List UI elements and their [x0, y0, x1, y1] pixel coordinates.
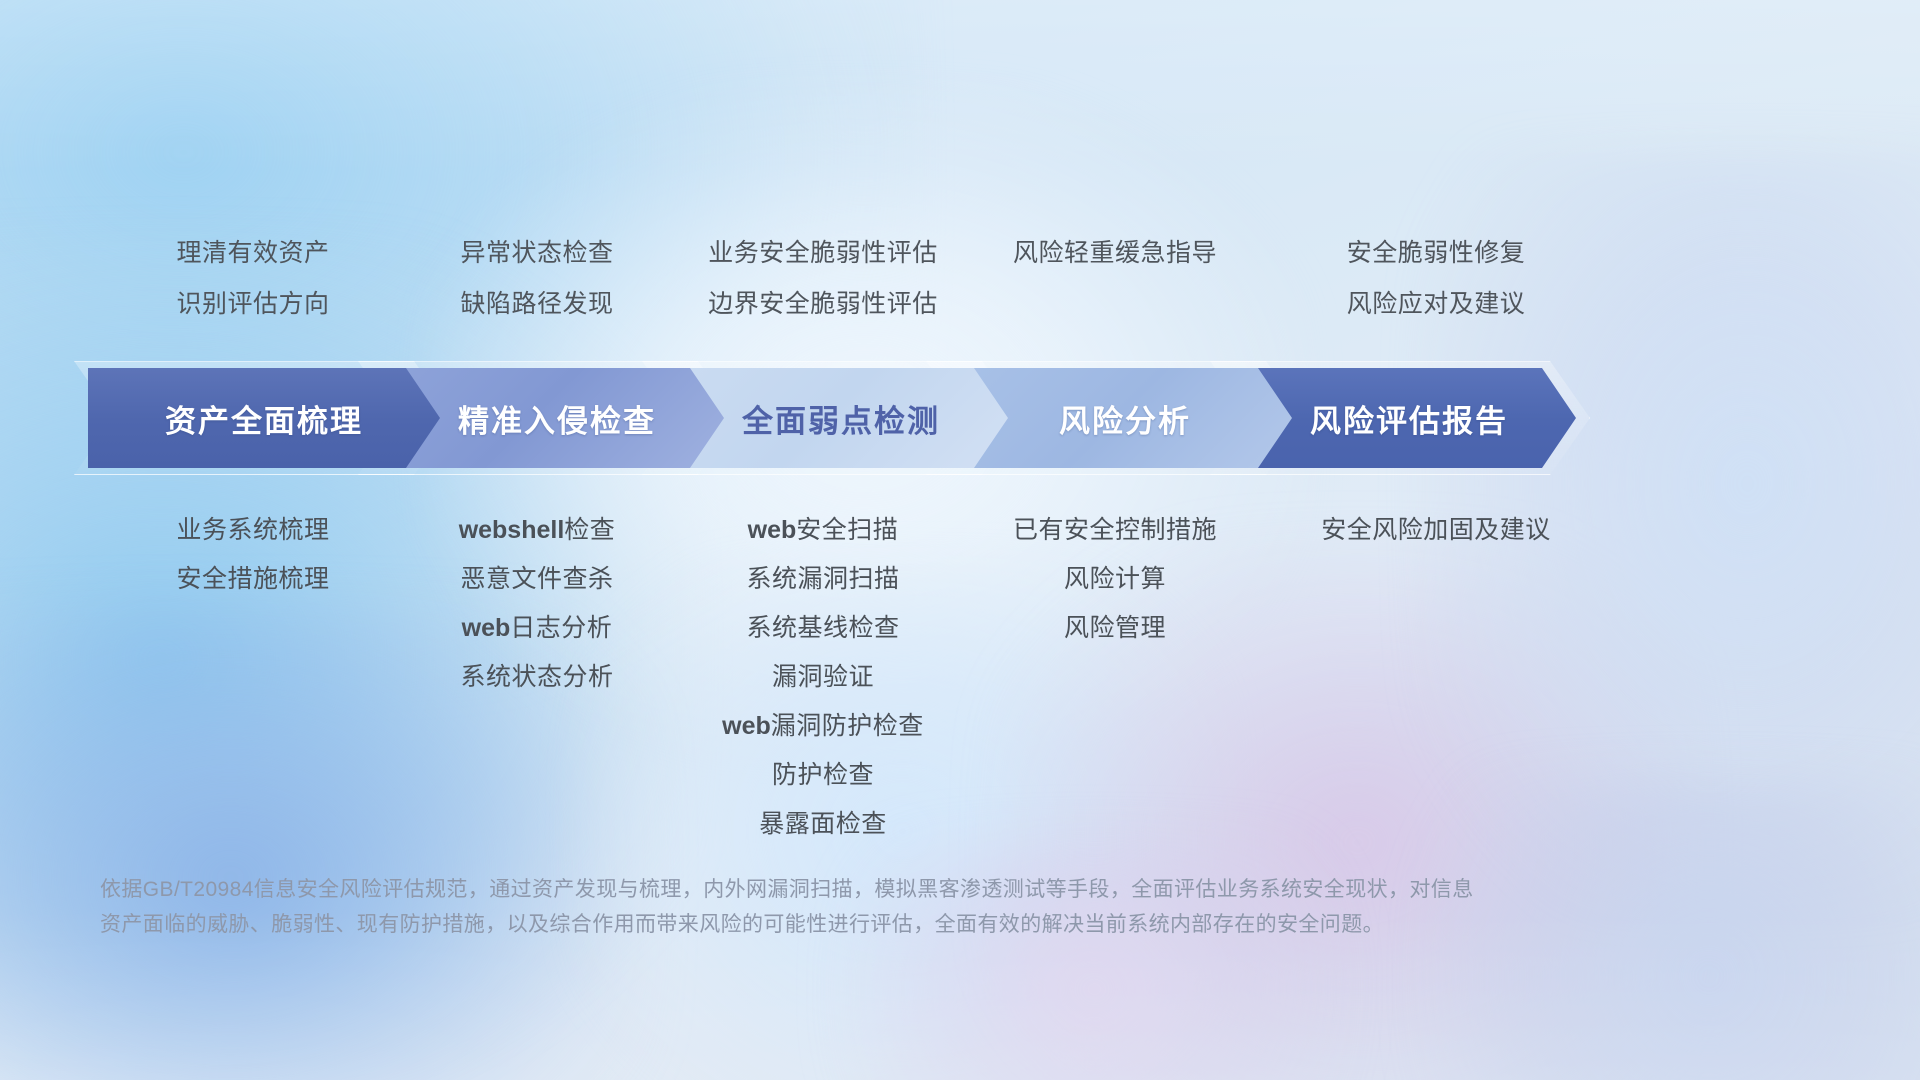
chevron-asset-inventory[interactable]: 资产全面梳理: [88, 368, 440, 468]
activity-item: 风险管理: [950, 604, 1280, 653]
stage-activities-asset-inventory: 业务系统梳理安全措施梳理: [88, 506, 418, 604]
outcome-item: 业务安全脆弱性评估: [653, 228, 993, 279]
outcome-item: 理清有效资产: [88, 228, 418, 279]
chevron-label: 风险评估报告: [1292, 396, 1508, 441]
chevron-label: 全面弱点检测: [724, 396, 940, 441]
process-diagram: 理清有效资产识别评估方向异常状态检查缺陷路径发现业务安全脆弱性评估边界安全脆弱性…: [0, 0, 1920, 1080]
chevron-label: 资产全面梳理: [165, 396, 363, 441]
activity-item: 安全措施梳理: [88, 555, 418, 604]
activity-item: 防护检查: [653, 751, 993, 800]
activity-item: web安全扫描: [653, 506, 993, 555]
activity-item: 业务系统梳理: [88, 506, 418, 555]
footer-description: 依据GB/T20984信息安全风险评估规范，通过资产发现与梳理，内外网漏洞扫描，…: [100, 872, 1620, 942]
activity-item: 暴露面检查: [653, 800, 993, 849]
outcome-item: 安全脆弱性修复: [1236, 228, 1636, 279]
activity-item: 系统基线检查: [653, 604, 993, 653]
footer-line-2: 资产面临的威胁、脆弱性、现有防护措施，以及综合作用而带来风险的可能性进行评估，全…: [100, 907, 1620, 942]
outcome-item: 识别评估方向: [88, 279, 418, 330]
chevron-label: 精准入侵检查: [440, 396, 656, 441]
activity-item: 漏洞验证: [653, 653, 993, 702]
stage-outcomes-risk-analysis: 风险轻重缓急指导: [950, 228, 1280, 279]
chevron-label: 风险分析: [1041, 396, 1191, 441]
activity-item: 安全风险加固及建议: [1236, 506, 1636, 555]
footer-line-1: 依据GB/T20984信息安全风险评估规范，通过资产发现与梳理，内外网漏洞扫描，…: [100, 872, 1620, 907]
outcome-item: 边界安全脆弱性评估: [653, 279, 993, 330]
activity-item: web漏洞防护检查: [653, 702, 993, 751]
activity-item: 系统漏洞扫描: [653, 555, 993, 604]
stage-outcomes-weakness-detection: 业务安全脆弱性评估边界安全脆弱性评估: [653, 228, 993, 330]
stage-activities-risk-assessment-report: 安全风险加固及建议: [1236, 506, 1636, 555]
activity-item: 风险计算: [950, 555, 1280, 604]
stage-outcomes-asset-inventory: 理清有效资产识别评估方向: [88, 228, 418, 330]
outcome-item: 风险轻重缓急指导: [950, 228, 1280, 279]
stage-chevron-band: 资产全面梳理精准入侵检查全面弱点检测风险分析风险评估报告: [88, 368, 1854, 468]
stage-activities-weakness-detection: web安全扫描系统漏洞扫描系统基线检查漏洞验证web漏洞防护检查防护检查暴露面检…: [653, 506, 993, 849]
activity-item: 已有安全控制措施: [950, 506, 1280, 555]
stage-activities-risk-analysis: 已有安全控制措施风险计算风险管理: [950, 506, 1280, 653]
stage-outcomes-risk-assessment-report: 安全脆弱性修复风险应对及建议: [1236, 228, 1636, 330]
outcome-item: 风险应对及建议: [1236, 279, 1636, 330]
